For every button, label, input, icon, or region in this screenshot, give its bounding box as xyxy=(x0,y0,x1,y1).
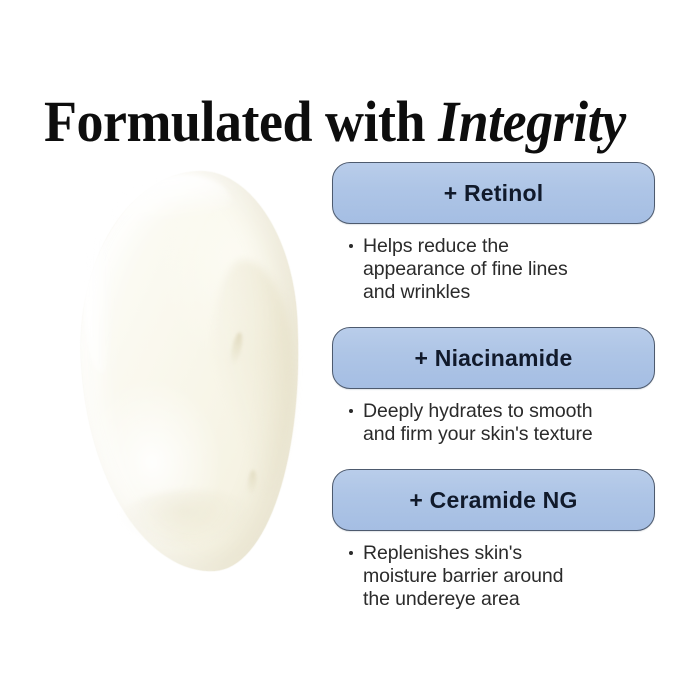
ingredient-pill-retinol: + Retinol xyxy=(332,162,655,224)
ingredient-item-ceramide-ng: + Ceramide NG Replenishes skin's moistur… xyxy=(332,469,656,611)
ingredient-item-niacinamide: + Niacinamide Deeply hydrates to smooth … xyxy=(332,327,656,446)
ingredient-list: + Retinol Helps reduce the appearance of… xyxy=(332,162,656,611)
ingredient-benefit-ceramide-ng: Replenishes skin's moisture barrier arou… xyxy=(332,542,656,611)
ingredient-pill-niacinamide: + Niacinamide xyxy=(332,327,655,389)
ingredient-pill-ceramide-ng: + Ceramide NG xyxy=(332,469,655,531)
ingredient-benefit-text: Replenishes skin's moisture barrier arou… xyxy=(363,542,656,611)
bullet-dot-icon xyxy=(349,551,353,555)
page-title-lead: Formulated with xyxy=(44,89,438,154)
page-title: Formulated with Integrity xyxy=(44,91,602,153)
ingredient-pill-label: + Ceramide NG xyxy=(409,487,577,514)
cream-swatch-image xyxy=(58,160,318,585)
ingredient-item-retinol: + Retinol Helps reduce the appearance of… xyxy=(332,162,656,304)
page-title-accent: Integrity xyxy=(438,89,626,154)
bullet-dot-icon xyxy=(349,409,353,413)
product-ingredient-infographic: Formulated with Integrity + Retinol Help… xyxy=(0,0,679,679)
ingredient-pill-label: + Retinol xyxy=(444,180,544,207)
ingredient-benefit-text: Deeply hydrates to smooth and firm your … xyxy=(363,400,656,446)
ingredient-benefit-retinol: Helps reduce the appearance of fine line… xyxy=(332,235,656,304)
ingredient-benefit-text: Helps reduce the appearance of fine line… xyxy=(363,235,656,304)
bullet-dot-icon xyxy=(349,244,353,248)
ingredient-benefit-niacinamide: Deeply hydrates to smooth and firm your … xyxy=(332,400,656,446)
ingredient-pill-label: + Niacinamide xyxy=(415,345,573,372)
cream-swatch-shadow-bottom xyxy=(116,490,266,560)
